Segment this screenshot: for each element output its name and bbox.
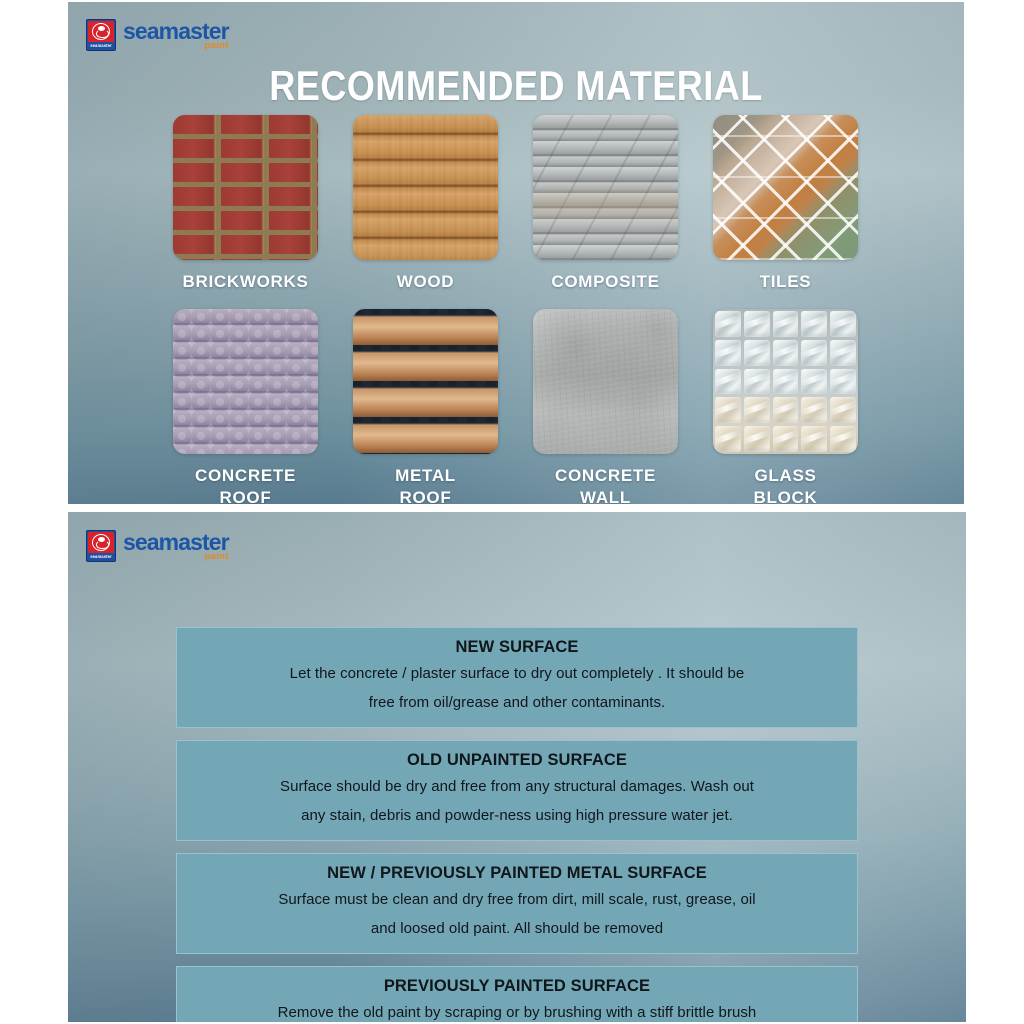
badge-swirl-icon bbox=[92, 534, 110, 551]
material-label-line1: METAL bbox=[395, 466, 456, 485]
prep-title: OLD UNPAINTED SURFACE bbox=[187, 748, 847, 772]
material-label-line2: WALL bbox=[580, 488, 631, 504]
material-row-2: CONCRETE ROOF METAL ROOF bbox=[173, 309, 903, 504]
recommended-material-panel: seamaster seamaster paint RECOMMENDED MA… bbox=[68, 2, 964, 504]
material-item-brickworks[interactable]: BRICKWORKS bbox=[173, 115, 318, 293]
logo-brand-name: seamaster bbox=[123, 20, 229, 42]
metal-roof-swatch bbox=[353, 309, 498, 454]
materials-heading: RECOMMENDED MATERIAL bbox=[131, 62, 902, 110]
concrete-roof-swatch bbox=[173, 309, 318, 454]
material-grid: BRICKWORKS WOOD COMPOSITE TILES bbox=[173, 115, 903, 504]
prep-line-2: and loosed old paint. All should be remo… bbox=[187, 914, 847, 943]
prep-line-2: any stain, debris and powder-ness using … bbox=[187, 801, 847, 830]
badge-word: seamaster bbox=[87, 554, 115, 560]
surface-preparation-list: NEW SURFACE Let the concrete / plaster s… bbox=[176, 627, 858, 1022]
tiles-swatch bbox=[713, 115, 858, 260]
material-item-wood[interactable]: WOOD bbox=[353, 115, 498, 293]
prep-title: PREVIOUSLY PAINTED SURFACE bbox=[187, 974, 847, 998]
material-label-line1: CONCRETE bbox=[195, 466, 296, 485]
material-item-glass-block[interactable]: GLASS BLOCK bbox=[713, 309, 858, 504]
prep-block-previously-painted-surface: PREVIOUSLY PAINTED SURFACE Remove the ol… bbox=[176, 966, 858, 1022]
composite-swatch bbox=[533, 115, 678, 260]
prep-title: NEW / PREVIOUSLY PAINTED METAL SURFACE bbox=[187, 861, 847, 885]
prep-title: NEW SURFACE bbox=[187, 635, 847, 659]
glass-block-grid bbox=[713, 309, 858, 454]
poster-page: seamaster seamaster paint RECOMMENDED MA… bbox=[0, 0, 1024, 1024]
material-label: BRICKWORKS bbox=[173, 271, 318, 293]
prep-block-old-unpainted-surface: OLD UNPAINTED SURFACE Surface should be … bbox=[176, 740, 858, 841]
material-label: CONCRETE WALL bbox=[533, 465, 678, 504]
seamaster-logo: seamaster seamaster paint bbox=[86, 19, 229, 51]
logo-wordmark: seamaster paint bbox=[123, 20, 229, 51]
concrete-wall-swatch bbox=[533, 309, 678, 454]
material-label-line1: GLASS bbox=[754, 466, 816, 485]
material-label-line2: ROOF bbox=[400, 488, 452, 504]
surface-preparations-panel: seamaster seamaster paint SURFACE PREPAR… bbox=[68, 512, 966, 1022]
prep-line-1: Remove the old paint by scraping or by b… bbox=[187, 998, 847, 1022]
material-label-line2: BLOCK bbox=[754, 488, 818, 504]
material-label: CONCRETE ROOF bbox=[173, 465, 318, 504]
material-label-line1: CONCRETE bbox=[555, 466, 656, 485]
prep-line-1: Let the concrete / plaster surface to dr… bbox=[187, 659, 847, 688]
material-label: METAL ROOF bbox=[353, 465, 498, 504]
seamaster-badge-icon: seamaster bbox=[86, 19, 116, 51]
material-label-line2: ROOF bbox=[220, 488, 272, 504]
prep-line-1: Surface should be dry and free from any … bbox=[187, 772, 847, 801]
badge-word: seamaster bbox=[87, 43, 115, 49]
prep-block-new-previously-painted-metal-surface: NEW / PREVIOUSLY PAINTED METAL SURFACE S… bbox=[176, 853, 858, 954]
material-label: COMPOSITE bbox=[533, 271, 678, 293]
prep-block-new-surface: NEW SURFACE Let the concrete / plaster s… bbox=[176, 627, 858, 728]
seamaster-logo: seamaster seamaster paint bbox=[86, 530, 229, 562]
material-item-concrete-roof[interactable]: CONCRETE ROOF bbox=[173, 309, 318, 504]
material-item-metal-roof[interactable]: METAL ROOF bbox=[353, 309, 498, 504]
material-row-1: BRICKWORKS WOOD COMPOSITE TILES bbox=[173, 115, 903, 293]
material-label: GLASS BLOCK bbox=[713, 465, 858, 504]
glass-block-swatch bbox=[713, 309, 858, 454]
wood-swatch bbox=[353, 115, 498, 260]
prep-line-1: Surface must be clean and dry free from … bbox=[187, 885, 847, 914]
logo-brand-name: seamaster bbox=[123, 531, 229, 553]
seamaster-badge-icon: seamaster bbox=[86, 530, 116, 562]
material-label: TILES bbox=[713, 271, 858, 293]
brickworks-swatch bbox=[173, 115, 318, 260]
prep-line-2: free from oil/grease and other contamina… bbox=[187, 688, 847, 717]
material-item-tiles[interactable]: TILES bbox=[713, 115, 858, 293]
logo-wordmark: seamaster paint bbox=[123, 531, 229, 562]
material-label: WOOD bbox=[353, 271, 498, 293]
material-item-concrete-wall[interactable]: CONCRETE WALL bbox=[533, 309, 678, 504]
badge-swirl-icon bbox=[92, 23, 110, 40]
material-item-composite[interactable]: COMPOSITE bbox=[533, 115, 678, 293]
